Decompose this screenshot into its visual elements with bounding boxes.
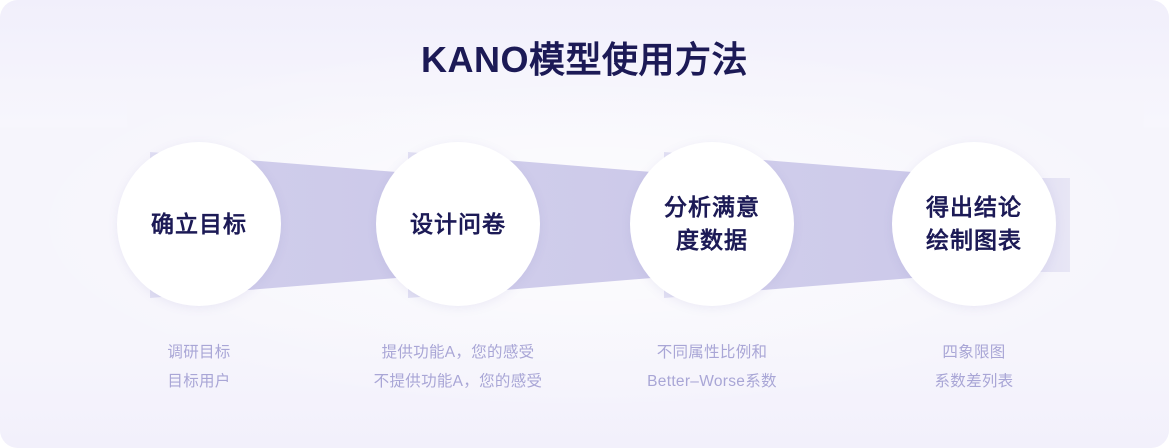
- step-label-2: 设计问卷: [410, 208, 506, 241]
- step-circle-1[interactable]: 确立目标: [117, 142, 281, 306]
- step-caption-2: 提供功能A，您的感受 不提供功能A，您的感受: [318, 338, 598, 396]
- step-circle-4[interactable]: 得出结论 绘制图表: [892, 142, 1056, 306]
- step-caption-3: 不同属性比例和 Better–Worse系数: [572, 338, 852, 396]
- infographic-canvas: KANO模型使用方法: [0, 0, 1169, 448]
- step-caption-1: 调研目标 目标用户: [59, 338, 339, 396]
- step-label-1: 确立目标: [151, 208, 247, 241]
- step-caption-4: 四象限图 系数差列表: [834, 338, 1114, 396]
- step-label-4: 得出结论 绘制图表: [926, 191, 1022, 257]
- step-circle-2[interactable]: 设计问卷: [376, 142, 540, 306]
- step-label-3: 分析满意 度数据: [664, 191, 760, 257]
- step-circle-3[interactable]: 分析满意 度数据: [630, 142, 794, 306]
